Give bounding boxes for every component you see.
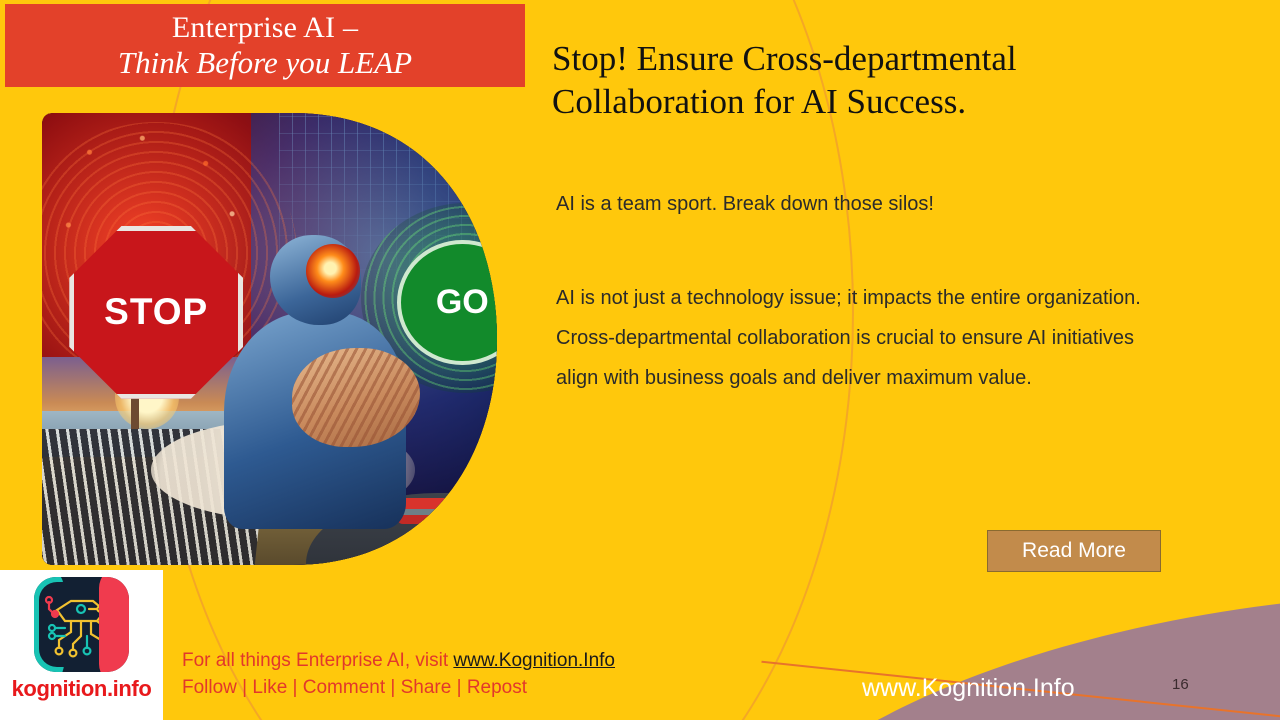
footer-sep-2: | [287,677,303,698]
footer-sep-3: | [385,677,401,698]
go-label: GO [436,283,489,322]
logo: kognition.info [0,570,163,720]
footer-line-1: For all things Enterprise AI, visit www.… [182,650,615,672]
lede-text: AI is a team sport. Break down those sil… [556,190,1196,218]
read-more-button[interactable]: Read More [987,530,1161,572]
body-paragraph: AI is not just a technology issue; it im… [556,278,1181,398]
slide-canvas: Enterprise AI – Think Before you LEAP GO [0,0,1280,720]
footer-comment[interactable]: Comment [303,677,385,698]
footer-repost[interactable]: Repost [467,677,527,698]
footer-line-2: Follow | Like | Comment | Share | Repost [182,677,527,699]
footer-site-link[interactable]: www.Kognition.Info [453,650,615,671]
footer-sep-1: | [237,677,253,698]
stop-label: STOP [104,291,208,333]
footer-like[interactable]: Like [252,677,287,698]
bus-icon [397,498,461,524]
footer-site-url: www.Kognition.Info [862,674,1075,703]
circuit-brain-icon [34,577,129,672]
circuit-svg [41,584,122,665]
illustration-canvas: GO STOP [42,113,497,565]
slide-deck-banner: Enterprise AI – Think Before you LEAP [5,4,525,87]
footer-line-1-prefix: For all things Enterprise AI, visit [182,650,453,671]
logo-wordmark: kognition.info [12,676,152,702]
illustration: GO STOP [42,113,497,565]
footer-sep-4: | [451,677,467,698]
banner-line-1: Enterprise AI – [172,11,358,45]
footer-follow[interactable]: Follow [182,677,237,698]
page-title: Stop! Ensure Cross-departmental Collabor… [552,37,1212,123]
illustration-clip: GO STOP [42,113,497,565]
footer-share[interactable]: Share [401,677,452,698]
banner-line-2: Think Before you LEAP [118,45,412,81]
page-number: 16 [1172,676,1189,693]
